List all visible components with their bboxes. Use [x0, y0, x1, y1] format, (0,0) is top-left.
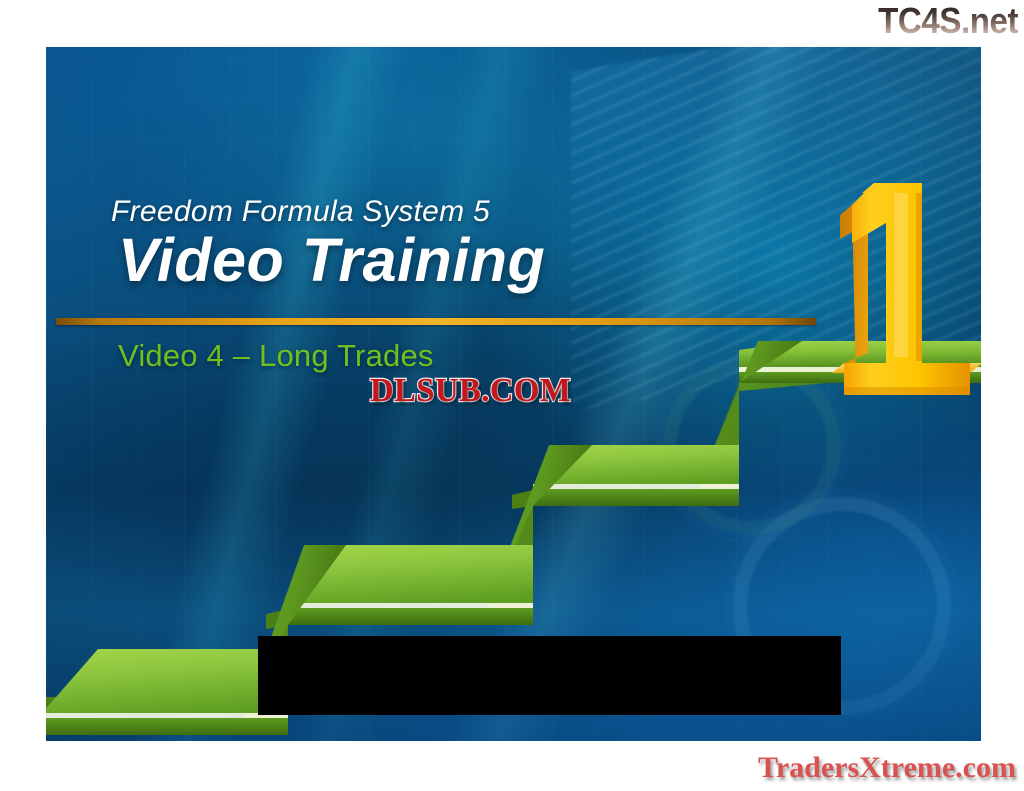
gold-divider-rule — [56, 318, 816, 325]
slide-title: Video Training — [118, 225, 545, 295]
slide-section-label: Video 4 – Long Trades — [118, 338, 434, 374]
golden-numeral-one — [822, 157, 981, 407]
numeral-one-svg — [822, 157, 981, 407]
redaction-bar — [258, 636, 841, 715]
staircase-step-1 — [46, 649, 288, 735]
dlsub-watermark: DLSUB.COM — [370, 372, 571, 410]
tradersxtreme-watermark: TradersXtreme.com — [758, 751, 1016, 785]
tc4s-site-watermark: TC4S.net — [878, 2, 1018, 40]
slide-canvas: Freedom Formula System 5 Video Training … — [46, 47, 981, 741]
slide-eyebrow-text: Freedom Formula System 5 — [111, 195, 490, 229]
